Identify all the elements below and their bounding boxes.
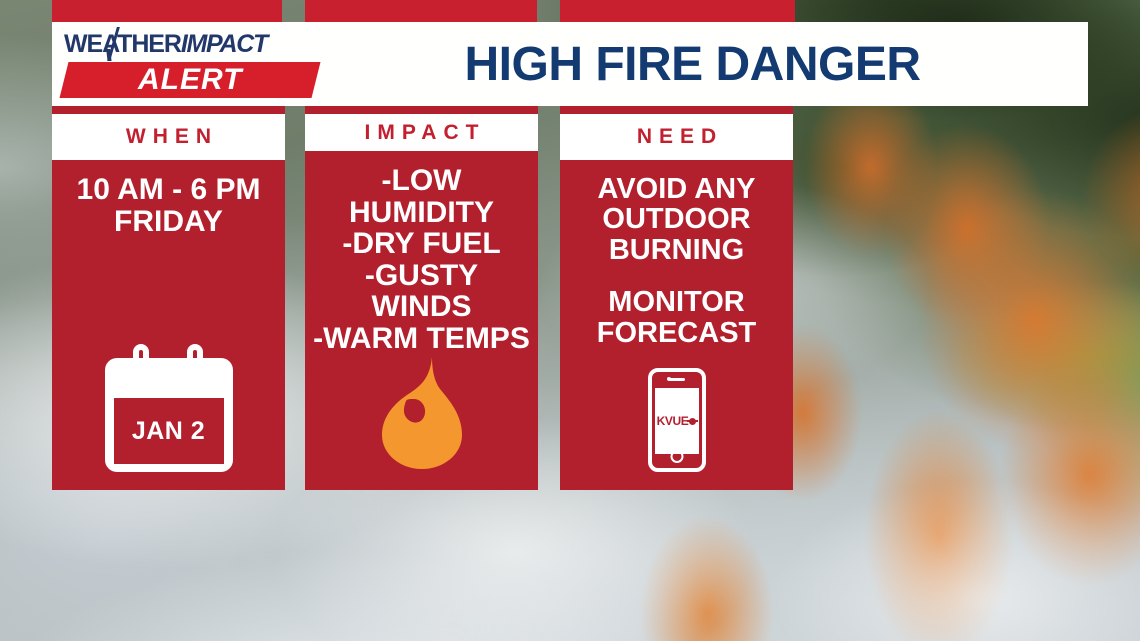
when-icon-wrap: JAN 2 — [105, 344, 233, 472]
panel-header-when: WHEN — [52, 114, 285, 160]
phone-icon: KVUE — [648, 368, 706, 472]
column-top-stub-impact — [305, 0, 537, 24]
alert-banner: WEATHER IMPACT ALERT HIGH FIRE DANGER — [52, 22, 1088, 106]
impact-line-4: -WARM TEMPS — [311, 323, 532, 355]
need-icon-wrap: KVUE — [648, 368, 706, 472]
column-top-stub-need — [560, 0, 795, 24]
need-line-4: MONITOR — [566, 287, 787, 317]
when-line-1: 10 AM - 6 PM — [58, 174, 279, 206]
logo-impact-text: IMPACT — [181, 30, 267, 58]
headline-title: HIGH FIRE DANGER — [317, 22, 1088, 106]
calendar-date-plate: JAN 2 — [114, 398, 224, 464]
logo-weather-text: WEATHER — [64, 30, 181, 58]
panel-header-impact: IMPACT — [305, 114, 538, 151]
calendar-date-label: JAN 2 — [132, 417, 205, 446]
need-line-3: BURNING — [566, 235, 787, 265]
panel-body-impact: -LOW HUMIDITY -DRY FUEL -GUSTY WINDS -WA… — [305, 151, 538, 354]
panel-body-need: AVOID ANY OUTDOOR BURNING MONITOR FORECA… — [560, 160, 793, 348]
panel-body-when: 10 AM - 6 PM FRIDAY — [52, 160, 285, 237]
impact-icon-wrap — [367, 354, 477, 472]
impact-line-3: -GUSTY WINDS — [311, 260, 532, 323]
calendar-body: JAN 2 — [105, 358, 233, 472]
phone-home-button-icon — [670, 450, 683, 463]
impact-line-1: -LOW HUMIDITY — [311, 165, 532, 228]
weather-impact-alert-logo: WEATHER IMPACT ALERT — [52, 22, 317, 106]
impact-line-2: -DRY FUEL — [311, 228, 532, 260]
panel-header-need-label: NEED — [630, 125, 723, 149]
need-line-2: OUTDOOR — [566, 204, 787, 234]
panel-header-need: NEED — [560, 114, 793, 160]
panel-need: NEED AVOID ANY OUTDOOR BURNING MONITOR F… — [560, 106, 793, 490]
logo-alert-text: ALERT — [138, 63, 242, 97]
flame-icon — [367, 354, 477, 472]
kvue-logo-text: KVUE — [657, 414, 689, 428]
panel-impact: IMPACT -LOW HUMIDITY -DRY FUEL -GUSTY WI… — [305, 106, 538, 490]
calendar-icon: JAN 2 — [105, 344, 233, 472]
panel-header-when-label: WHEN — [119, 125, 218, 149]
phone-screen: KVUE — [655, 388, 699, 454]
kvue-logo-mark-icon — [689, 418, 696, 425]
alert-ribbon: ALERT — [60, 62, 321, 98]
phone-speaker-icon — [669, 378, 685, 381]
logo-wordmark: WEATHER IMPACT — [64, 30, 317, 58]
panel-when: WHEN 10 AM - 6 PM FRIDAY JAN 2 — [52, 106, 285, 490]
panel-header-impact-label: IMPACT — [358, 121, 486, 145]
need-line-1: AVOID ANY — [566, 174, 787, 204]
need-line-gap — [566, 265, 787, 287]
when-line-2: FRIDAY — [58, 206, 279, 238]
kvue-logo: KVUE — [657, 414, 697, 428]
need-line-5: FORECAST — [566, 318, 787, 348]
column-top-stub-when — [52, 0, 282, 24]
